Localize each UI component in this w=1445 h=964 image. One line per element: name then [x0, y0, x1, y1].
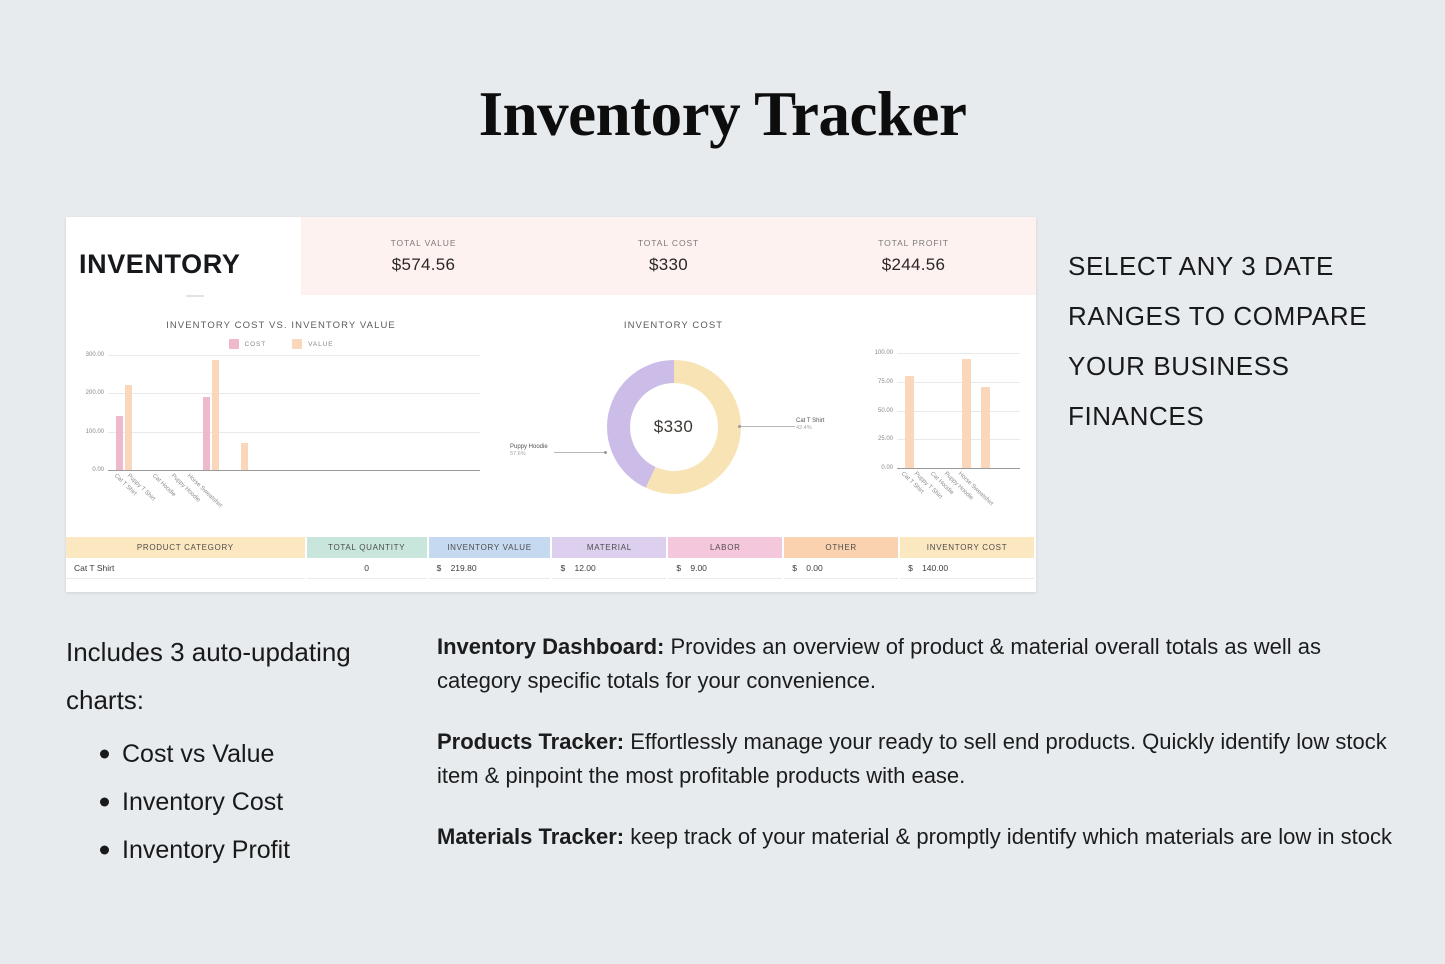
donut-leader-dot [738, 425, 741, 428]
summary-stats-strip: TOTAL VALUE $574.56 TOTAL COST $330 TOTA… [301, 217, 1036, 295]
currency-symbol: $ [676, 563, 690, 573]
cell-product-category: Cat T Shirt [66, 558, 306, 579]
right-headline: SELECT ANY 3 DATE RANGES TO COMPARE YOUR… [1068, 241, 1428, 441]
y-tick: 0.00 [92, 467, 104, 473]
includes-block: Includes 3 auto-updating charts: Cost vs… [66, 628, 416, 874]
dashboard-logo: INVENTORY [79, 249, 240, 280]
y-tick: 50.00 [878, 408, 893, 414]
stat-value: $330 [649, 255, 688, 275]
currency-symbol: $ [908, 563, 922, 573]
cell-amount: 140.00 [922, 563, 948, 573]
stat-label: TOTAL VALUE [391, 238, 457, 248]
descriptions-block: Inventory Dashboard: Provides an overvie… [437, 630, 1392, 881]
description-products-tracker: Products Tracker: Effortlessly manage yo… [437, 725, 1392, 793]
description-materials-tracker: Materials Tracker: keep track of your ma… [437, 820, 1392, 854]
y-tick: 25.00 [878, 436, 893, 442]
dashboard-logo-box: INVENTORY [66, 217, 301, 312]
currency-symbol: $ [560, 563, 574, 573]
y-tick: 300.00 [86, 352, 104, 358]
description-label: Inventory Dashboard: [437, 634, 664, 659]
chart-legend: COST VALUE [66, 339, 496, 349]
cell-amount: 219.80 [451, 563, 477, 573]
logo-underline-decoration [186, 295, 204, 297]
bullet-icon [100, 846, 109, 855]
stat-value: $574.56 [392, 255, 456, 275]
stat-value: $244.56 [882, 255, 946, 275]
y-tick: 100.00 [875, 350, 893, 356]
chart-title: INVENTORY COST [496, 320, 851, 331]
cell-amount: 9.00 [690, 563, 707, 573]
th-inventory-cost: INVENTORY COST [899, 537, 1035, 558]
x-axis-labels: Cat T Shirt Puppy T Shirt Cat Hoodie Pup… [108, 471, 486, 521]
currency-symbol: $ [437, 563, 451, 573]
table-row: Cat T Shirt 0 $219.80 $12.00 $9.00 $0.00… [66, 558, 1035, 579]
bar-plot: 0.00 25.00 50.00 75.00 100.00 [897, 353, 1020, 469]
cell-amount: 0.00 [806, 563, 823, 573]
includes-heading: Includes 3 auto-updating charts: [66, 628, 416, 724]
stat-total-value: TOTAL VALUE $574.56 [301, 217, 546, 295]
page-root: Inventory Tracker INVENTORY TOTAL VALUE … [0, 0, 1445, 964]
donut-label-percent: 57.6% [510, 451, 548, 458]
donut-label-text: Cat T Shirt [796, 418, 824, 424]
donut-plot-area: $330 Cat T Shirt 42.4% Puppy Hoodie [496, 339, 851, 514]
donut-label-percent: 42.4% [796, 425, 824, 432]
stat-label: TOTAL COST [638, 238, 699, 248]
list-item-label: Inventory Profit [122, 836, 290, 864]
legend-item-cost: COST [229, 339, 267, 349]
includes-list: Cost vs Value Inventory Cost Inventory P… [66, 730, 416, 874]
list-item: Inventory Profit [66, 826, 416, 874]
y-tick: 200.00 [86, 390, 104, 396]
cell-material: $12.00 [551, 558, 667, 579]
list-item: Cost vs Value [66, 730, 416, 778]
legend-label: VALUE [308, 341, 333, 348]
y-tick: 0.00 [881, 465, 893, 471]
donut-leader-line [739, 426, 795, 427]
cell-inventory-cost: $140.00 [899, 558, 1035, 579]
chart-plot-area: 0.00 25.00 50.00 75.00 100.00 [855, 353, 1026, 519]
cell-inventory-value: $219.80 [428, 558, 552, 579]
currency-symbol: $ [792, 563, 806, 573]
description-text: keep track of your material & promptly i… [624, 824, 1392, 849]
th-total-quantity: TOTAL QUANTITY [306, 537, 428, 558]
legend-label: COST [245, 341, 267, 348]
dashboard-preview-card: INVENTORY TOTAL VALUE $574.56 TOTAL COST… [66, 217, 1036, 592]
th-material: MATERIAL [551, 537, 667, 558]
cell-total-quantity: 0 [306, 558, 428, 579]
th-product-category: PRODUCT CATEGORY [66, 537, 306, 558]
x-axis-labels: Cat T Shirt Puppy T Shirt Cat Hoodie Pup… [897, 469, 1026, 519]
chart-cost-vs-value: INVENTORY COST VS. INVENTORY VALUE COST … [66, 312, 496, 537]
cell-other: $0.00 [783, 558, 899, 579]
bar-plot: 0.00 100.00 200.00 300.00 [108, 355, 480, 471]
donut-label-text: Puppy Hoodie [510, 444, 548, 450]
donut-label-puppy-hoodie: Puppy Hoodie 57.6% [510, 443, 548, 459]
donut-center-value: $330 [654, 417, 693, 437]
donut-label-cat-t-shirt: Cat T Shirt 42.4% [796, 417, 824, 433]
donut-leader-dot [604, 451, 607, 454]
chart-inventory-profit: INVENTORY PROFIT 0.00 25.00 50.00 75.00 … [851, 312, 1036, 537]
description-label: Materials Tracker: [437, 824, 624, 849]
description-inventory-dashboard: Inventory Dashboard: Provides an overvie… [437, 630, 1392, 698]
list-item: Inventory Cost [66, 778, 416, 826]
donut-hole: $330 [630, 383, 718, 471]
bullet-icon [100, 750, 109, 759]
stat-total-cost: TOTAL COST $330 [546, 217, 791, 295]
cell-labor: $9.00 [667, 558, 783, 579]
chart-title: INVENTORY COST VS. INVENTORY VALUE [66, 320, 496, 331]
th-labor: LABOR [667, 537, 783, 558]
list-item-label: Inventory Cost [122, 788, 283, 816]
dashboard-header: INVENTORY TOTAL VALUE $574.56 TOTAL COST… [66, 217, 1036, 312]
cell-amount: 12.00 [574, 563, 595, 573]
th-other: OTHER [783, 537, 899, 558]
legend-item-value: VALUE [292, 339, 333, 349]
stat-total-profit: TOTAL PROFIT $244.56 [791, 217, 1036, 295]
y-tick: 100.00 [86, 429, 104, 435]
bullet-icon [100, 798, 109, 807]
chart-plot-area: 0.00 100.00 200.00 300.00 [70, 355, 486, 521]
description-label: Products Tracker: [437, 729, 624, 754]
th-inventory-value: INVENTORY VALUE [428, 537, 552, 558]
donut-leader-line [554, 452, 606, 453]
charts-row: INVENTORY COST VS. INVENTORY VALUE COST … [66, 312, 1036, 537]
chart-inventory-cost: INVENTORY COST $330 Cat T Shirt 42.4% [496, 312, 851, 537]
y-tick: 75.00 [878, 379, 893, 385]
legend-swatch-icon [229, 339, 239, 349]
list-item-label: Cost vs Value [122, 740, 274, 768]
category-totals-table: PRODUCT CATEGORY TOTAL QUANTITY INVENTOR… [66, 537, 1036, 579]
donut-chart: $330 [607, 360, 741, 494]
table-header-row: PRODUCT CATEGORY TOTAL QUANTITY INVENTOR… [66, 537, 1035, 558]
stat-label: TOTAL PROFIT [878, 238, 949, 248]
page-title: Inventory Tracker [0, 78, 1445, 151]
legend-swatch-icon [292, 339, 302, 349]
